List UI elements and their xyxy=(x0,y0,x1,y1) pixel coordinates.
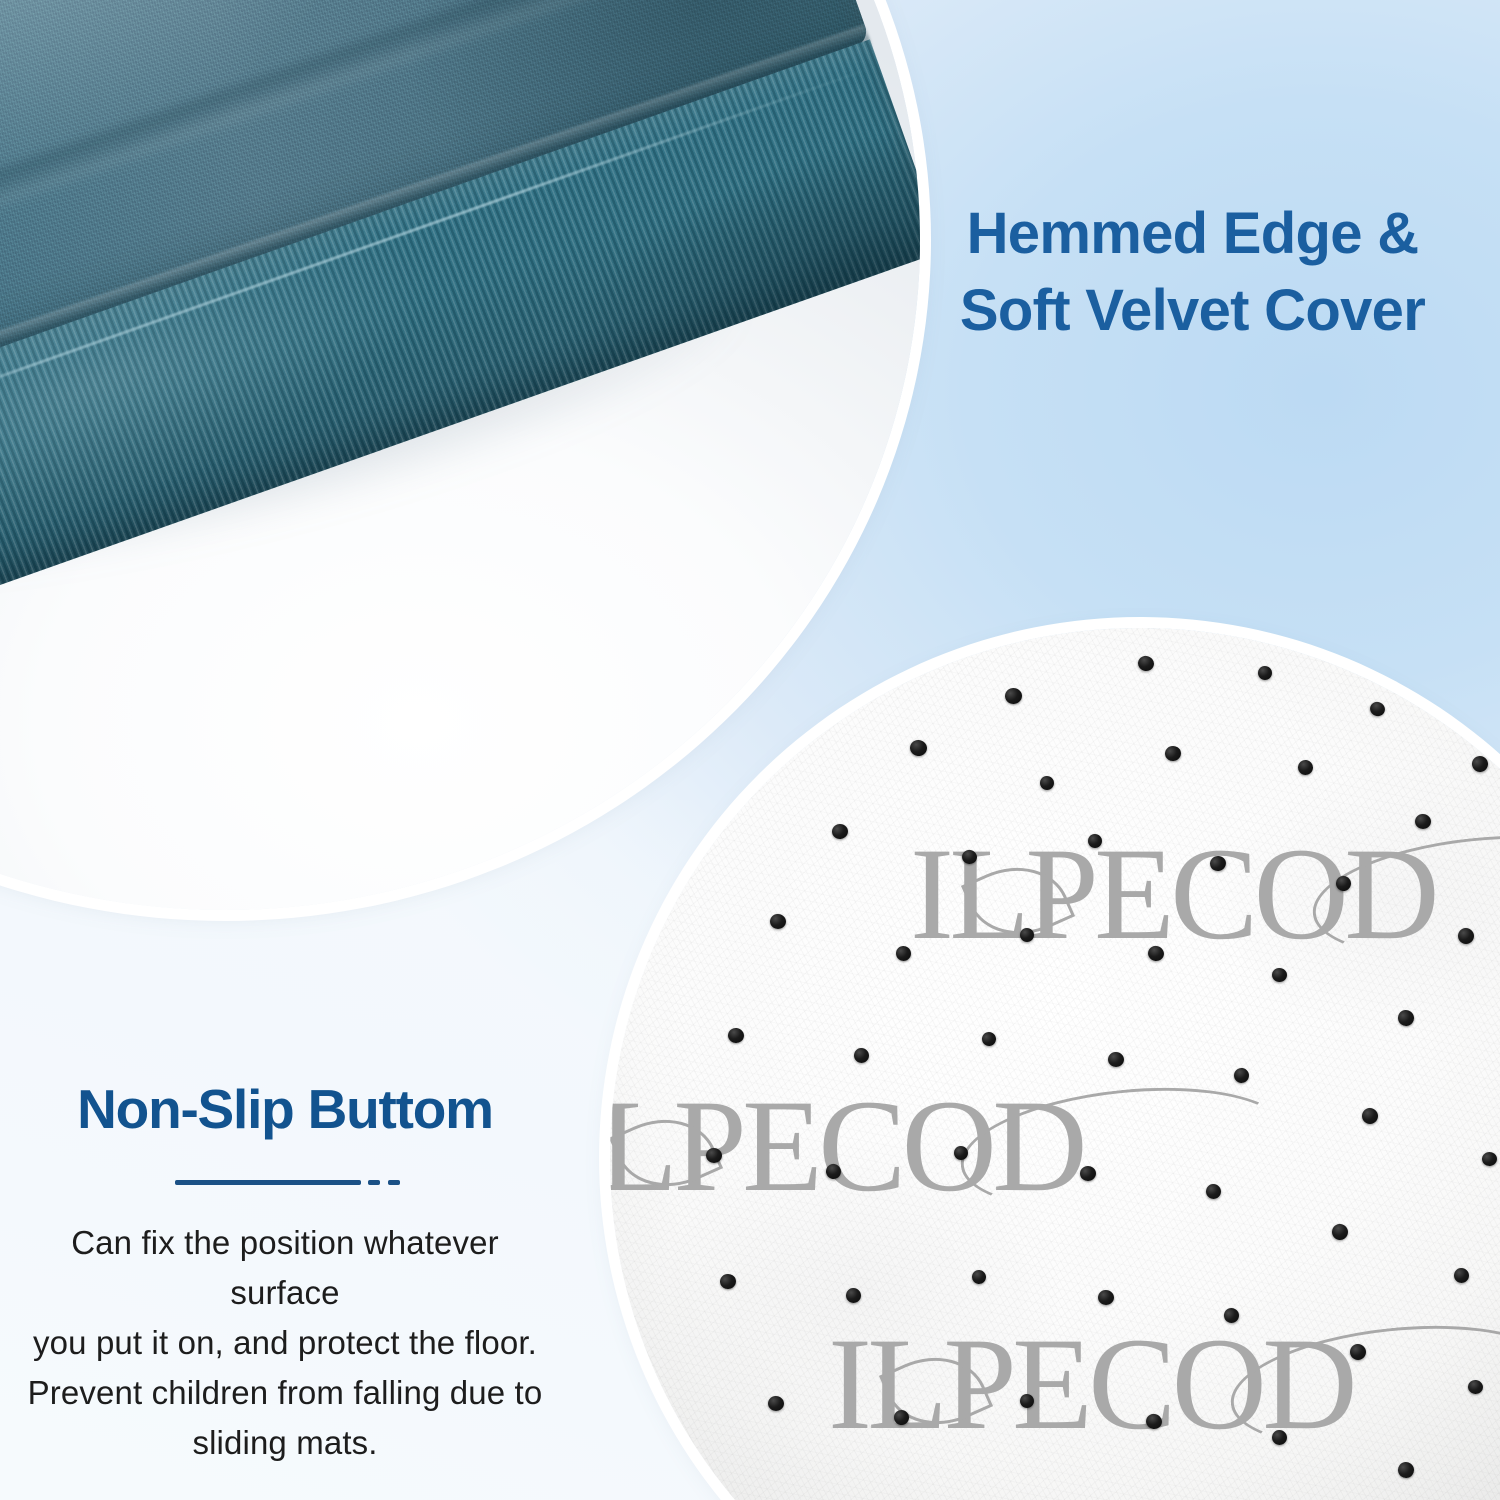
feature-body-non-slip: Can fix the position whatever surface yo… xyxy=(0,1218,570,1469)
feature-heading-hemmed-edge: Hemmed Edge & Soft Velvet Cover xyxy=(905,196,1480,349)
product-feature-canvas: ILPECOD ILPECOD ILPECOD Hemmed Edge & So… xyxy=(0,0,1500,1500)
feature-block-non-slip: Non-Slip Buttom Can fix the position wha… xyxy=(0,1078,570,1469)
title-divider xyxy=(0,1172,570,1192)
body-line-3: Prevent children from falling due to xyxy=(20,1368,550,1418)
body-line-4: sliding mats. xyxy=(20,1418,550,1468)
body-line-2: you put it on, and protect the floor. xyxy=(20,1318,550,1368)
body-line-1: Can fix the position whatever surface xyxy=(20,1218,550,1318)
heading-line-2: Soft Velvet Cover xyxy=(905,273,1480,350)
divider-dash-2 xyxy=(388,1180,400,1185)
divider-dash-1 xyxy=(368,1180,380,1185)
feature-title-non-slip: Non-Slip Buttom xyxy=(0,1078,570,1142)
divider-bar xyxy=(175,1180,361,1185)
non-slip-mat-photo: ILPECOD ILPECOD ILPECOD xyxy=(610,628,1500,1500)
heading-line-1: Hemmed Edge & xyxy=(905,196,1480,273)
